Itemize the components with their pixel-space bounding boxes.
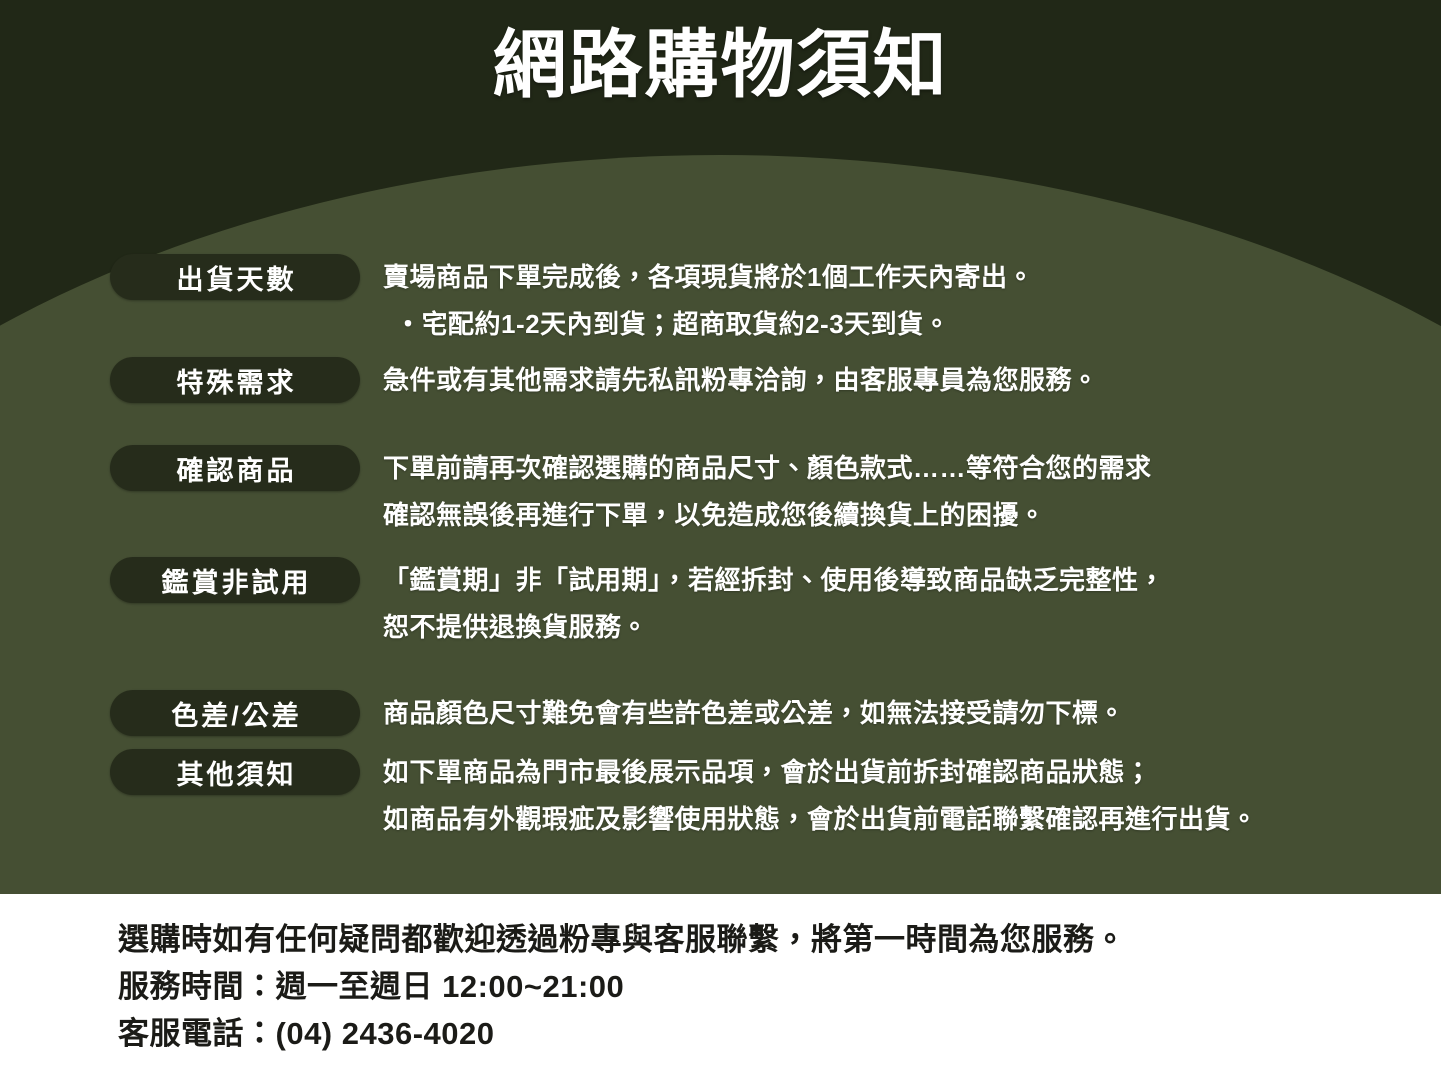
notice-badge: 鑑賞非試用	[110, 557, 360, 603]
footer-line-service-hours: 服務時間：週一至週日 12:00~21:00	[118, 963, 1126, 1010]
notice-body: 下單前請再次確認選購的商品尺寸、顏色款式……等符合您的需求確認無誤後再進行下單，…	[383, 445, 1152, 539]
green-background-panel: 網路購物須知 出貨天數賣場商品下單完成後，各項現貨將於1個工作天內寄出。・宅配約…	[0, 0, 1441, 894]
footer-text-block: 選購時如有任何疑問都歡迎透過粉專與客服聯繫，將第一時間為您服務。 服務時間：週一…	[118, 916, 1126, 1057]
notice-row: 出貨天數賣場商品下單完成後，各項現貨將於1個工作天內寄出。・宅配約1-2天內到貨…	[110, 254, 1034, 348]
notice-body-line: 確認無誤後再進行下單，以免造成您後續換貨上的困擾。	[383, 492, 1152, 539]
notice-body-line: 下單前請再次確認選購的商品尺寸、顏色款式……等符合您的需求	[383, 445, 1152, 492]
notice-badge: 確認商品	[110, 445, 360, 491]
notice-row: 確認商品下單前請再次確認選購的商品尺寸、顏色款式……等符合您的需求確認無誤後再進…	[110, 445, 1152, 539]
notice-body: 急件或有其他需求請先私訊粉專洽詢，由客服專員為您服務。	[383, 357, 1099, 404]
notice-body-line: 如商品有外觀瑕疵及影響使用狀態，會於出貨前電話聯繫確認再進行出貨。	[383, 796, 1258, 843]
notice-body: 「鑑賞期」非「試用期」，若經拆封、使用後導致商品缺乏完整性，恕不提供退換貨服務。	[383, 557, 1165, 651]
shopping-notice-page: 網路購物須知 出貨天數賣場商品下單完成後，各項現貨將於1個工作天內寄出。・宅配約…	[0, 0, 1441, 1080]
notice-row: 鑑賞非試用「鑑賞期」非「試用期」，若經拆封、使用後導致商品缺乏完整性，恕不提供退…	[110, 557, 1165, 651]
notice-row: 其他須知如下單商品為門市最後展示品項，會於出貨前拆封確認商品狀態；如商品有外觀瑕…	[110, 749, 1258, 843]
notice-badge: 其他須知	[110, 749, 360, 795]
notice-body-line: 如下單商品為門市最後展示品項，會於出貨前拆封確認商品狀態；	[383, 749, 1258, 796]
notice-section-list: 出貨天數賣場商品下單完成後，各項現貨將於1個工作天內寄出。・宅配約1-2天內到貨…	[0, 0, 1441, 894]
notice-badge: 特殊需求	[110, 357, 360, 403]
notice-body: 賣場商品下單完成後，各項現貨將於1個工作天內寄出。・宅配約1-2天內到貨；超商取…	[383, 254, 1034, 348]
notice-row: 色差/公差商品顏色尺寸難免會有些許色差或公差，如無法接受請勿下標。	[110, 690, 1125, 737]
contact-footer: 選購時如有任何疑問都歡迎透過粉專與客服聯繫，將第一時間為您服務。 服務時間：週一…	[0, 894, 1441, 1080]
notice-body-line: 急件或有其他需求請先私訊粉專洽詢，由客服專員為您服務。	[383, 357, 1099, 404]
notice-body-line: 「鑑賞期」非「試用期」，若經拆封、使用後導致商品缺乏完整性，	[383, 557, 1165, 604]
notice-body-line: 商品顏色尺寸難免會有些許色差或公差，如無法接受請勿下標。	[383, 690, 1125, 737]
notice-body: 商品顏色尺寸難免會有些許色差或公差，如無法接受請勿下標。	[383, 690, 1125, 737]
notice-badge: 出貨天數	[110, 254, 360, 300]
notice-body-line: 恕不提供退換貨服務。	[383, 604, 1165, 651]
notice-row: 特殊需求急件或有其他需求請先私訊粉專洽詢，由客服專員為您服務。	[110, 357, 1099, 404]
notice-body-line: ・宅配約1-2天內到貨；超商取貨約2-3天到貨。	[383, 301, 1034, 348]
footer-line-service-phone: 客服電話：(04) 2436-4020	[118, 1010, 1126, 1057]
notice-badge: 色差/公差	[110, 690, 360, 736]
notice-body-line: 賣場商品下單完成後，各項現貨將於1個工作天內寄出。	[383, 254, 1034, 301]
notice-body: 如下單商品為門市最後展示品項，會於出貨前拆封確認商品狀態；如商品有外觀瑕疵及影響…	[383, 749, 1258, 843]
footer-line-service-promise: 選購時如有任何疑問都歡迎透過粉專與客服聯繫，將第一時間為您服務。	[118, 916, 1126, 963]
